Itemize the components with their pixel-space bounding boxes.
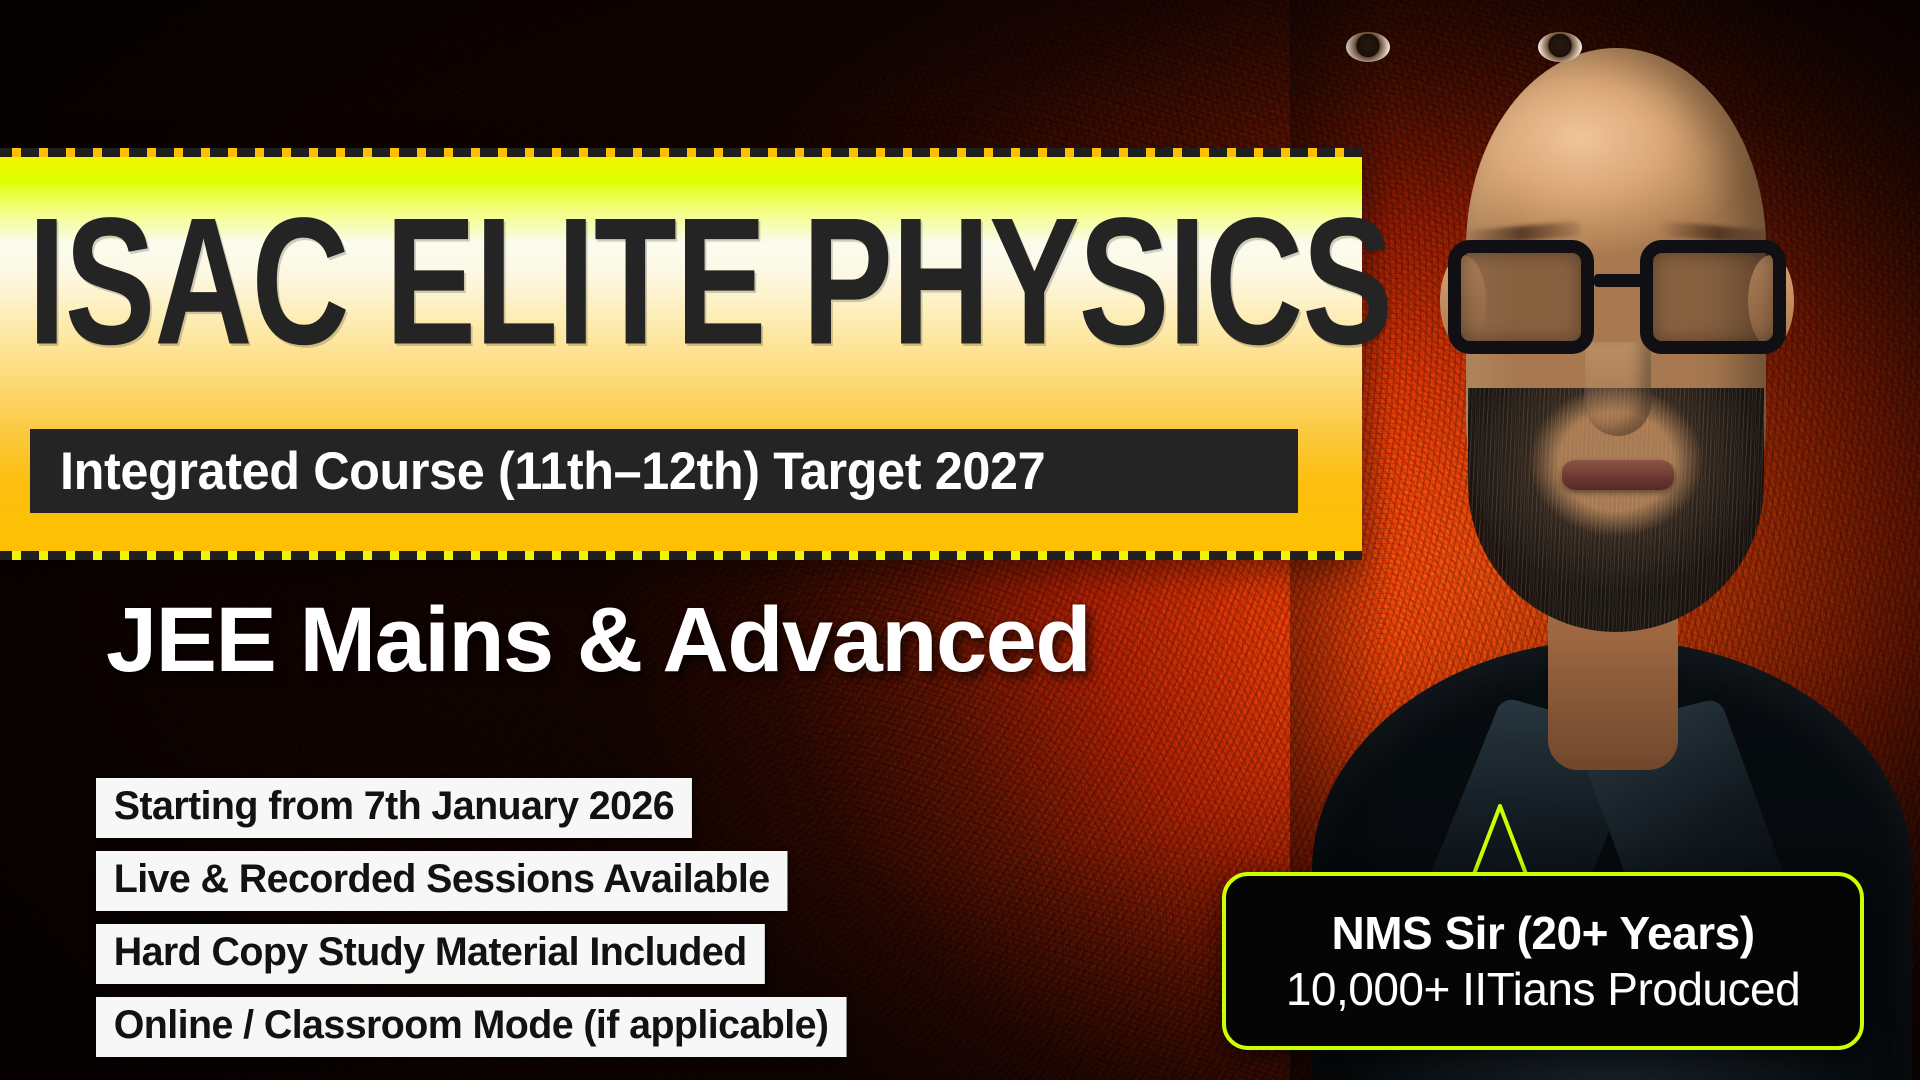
feature-list: Starting from 7th January 2026 Live & Re… [96,778,858,1057]
subtitle-bar: Integrated Course (11th–12th) Target 202… [30,429,1298,513]
glasses-lens-left [1448,240,1594,354]
title-banner: ISAC ELITE PHYSICS Integrated Course (11… [0,148,1362,560]
subtitle-text: Integrated Course (11th–12th) Target 202… [60,441,1045,502]
portrait-mouth [1562,460,1674,490]
list-item: Hard Copy Study Material Included [96,924,764,984]
promo-poster: ISAC ELITE PHYSICS Integrated Course (11… [0,0,1920,1080]
callout-line-1: NMS Sir (20+ Years) [1331,906,1754,960]
page-title: ISAC ELITE PHYSICS [28,191,1237,372]
portrait-eye-left [1346,32,1390,62]
credentials-callout: NMS Sir (20+ Years) 10,000+ IITians Prod… [1222,872,1864,1050]
callout-line-2: 10,000+ IITians Produced [1286,962,1800,1016]
headline-text: JEE Mains & Advanced [106,588,1090,693]
glasses-icon [1448,240,1786,360]
list-item: Live & Recorded Sessions Available [96,851,787,911]
portrait-eye-right [1538,32,1582,62]
list-item: Online / Classroom Mode (if applicable) [96,997,846,1057]
glasses-bridge [1594,274,1644,287]
glasses-lens-right [1640,240,1786,354]
callout-pointer-icon [1440,800,1580,878]
list-item: Starting from 7th January 2026 [96,778,692,838]
